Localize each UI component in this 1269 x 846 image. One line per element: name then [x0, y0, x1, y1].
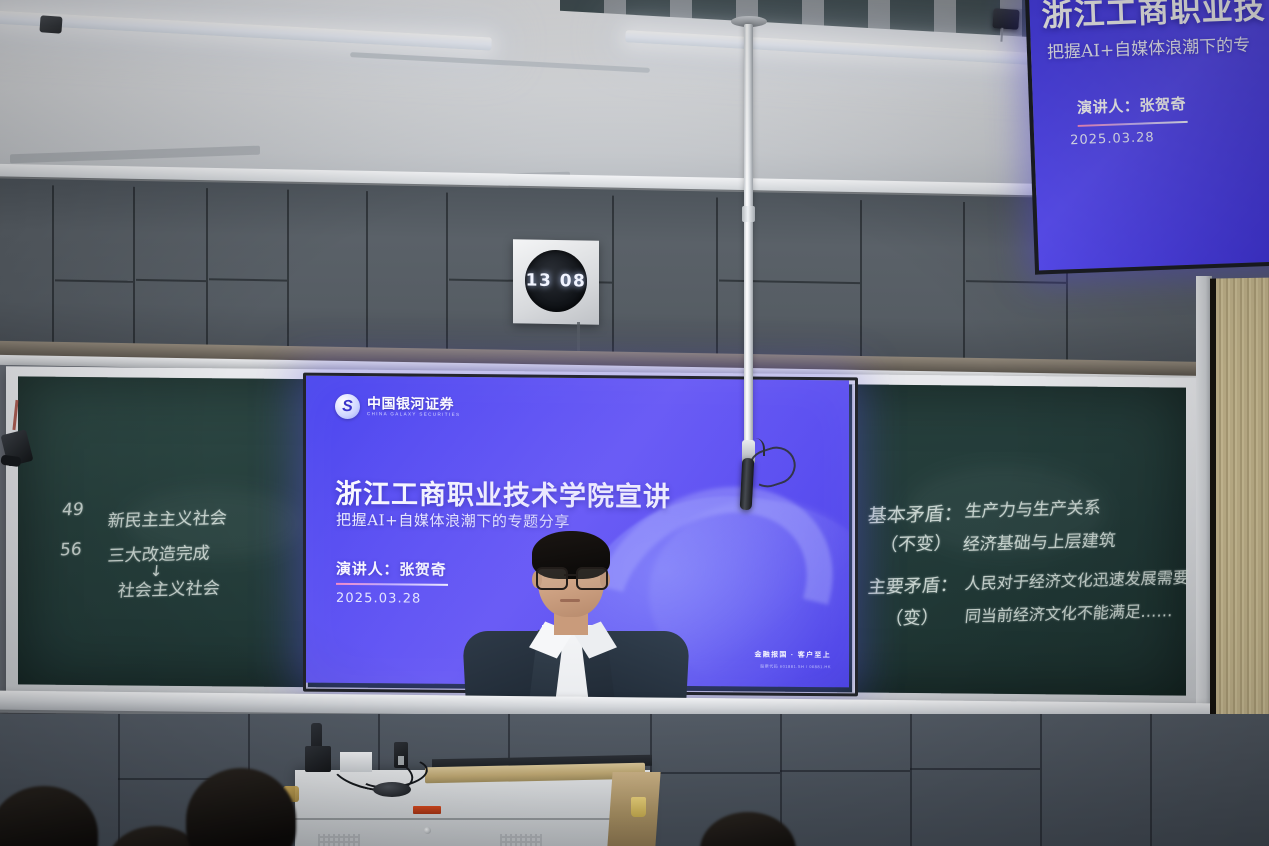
chalk-note-text: 新民主主义社会: [107, 503, 228, 531]
chalk-note-label: 基本矛盾：: [867, 499, 965, 529]
podium-lock-icon: [424, 827, 431, 834]
microphone-pole: [744, 24, 753, 444]
side-screen-date: 2025.03.28: [1070, 130, 1155, 148]
chalk-note-text: 生产力与生产关系: [964, 493, 1102, 522]
ceiling-speaker-icon: [992, 8, 1019, 30]
side-screen-subtitle: 把握AI+自媒体浪潮下的专: [1046, 31, 1250, 63]
brand-logo: S 中国银河证券 CHINA GALAXY SECURITIES: [335, 394, 460, 420]
secondary-projection-screen: 浙江工商职业技 把握AI+自媒体浪潮下的专 演讲人：张贺奇 2025.03.28: [1025, 0, 1269, 275]
slide-slogan: 金融报国 · 客户至上: [754, 650, 831, 661]
side-screen-speaker: 演讲人：张贺奇: [1077, 93, 1187, 118]
podium-device: [305, 746, 331, 772]
desk-microphone-base: [373, 782, 411, 797]
slide-divider: [336, 583, 448, 586]
chalk-note-text: 经济基础与上层建筑: [962, 526, 1117, 555]
chalk-note-label: （不变）: [879, 529, 953, 557]
chalk-note-marker: 56: [59, 540, 83, 561]
podium-vent: [500, 834, 542, 846]
slide-speaker: 演讲人：张贺奇: [336, 558, 447, 580]
slide-fine-print: 股票代码 601881.SH / 06881.HK: [760, 664, 831, 671]
slide-date: 2025.03.28: [336, 591, 421, 607]
drink-cup: [631, 797, 646, 817]
chalk-note-text: 社会主义社会: [117, 574, 221, 602]
podium-brand-tag: [413, 806, 441, 814]
clock-time: 13 08: [526, 270, 587, 291]
lecture-hall-photo: 13 08 浙江工商职业技 把握AI+自媒体浪潮下的专 演讲人：张贺奇 2025…: [0, 0, 1269, 846]
side-screen-title: 浙江工商职业技: [1041, 0, 1266, 35]
wall-clock: 13 08: [513, 239, 599, 325]
podium-seam: [295, 818, 610, 820]
galaxy-swirl-icon: S: [335, 394, 360, 419]
pole-joint: [742, 206, 755, 222]
chalk-note-label: （变）: [884, 603, 940, 631]
side-screen-divider: [1078, 121, 1188, 127]
slide-title: 浙江工商职业技术学院宣讲: [335, 472, 671, 514]
brand-name-cn: 中国银河证券: [367, 397, 460, 413]
ceiling-vent-slot: [10, 146, 260, 164]
mouth: [560, 599, 580, 602]
chalk-note-label: 主要矛盾：: [867, 571, 959, 600]
ceiling-sensor-icon: [39, 15, 62, 33]
chalk-note-marker: 49: [61, 500, 85, 521]
clock-face: 13 08: [525, 249, 587, 312]
brand-name-en: CHINA GALAXY SECURITIES: [367, 411, 460, 417]
blackboard-divider: [852, 384, 857, 692]
glasses-icon: [536, 567, 606, 586]
podium-vent: [318, 834, 360, 846]
